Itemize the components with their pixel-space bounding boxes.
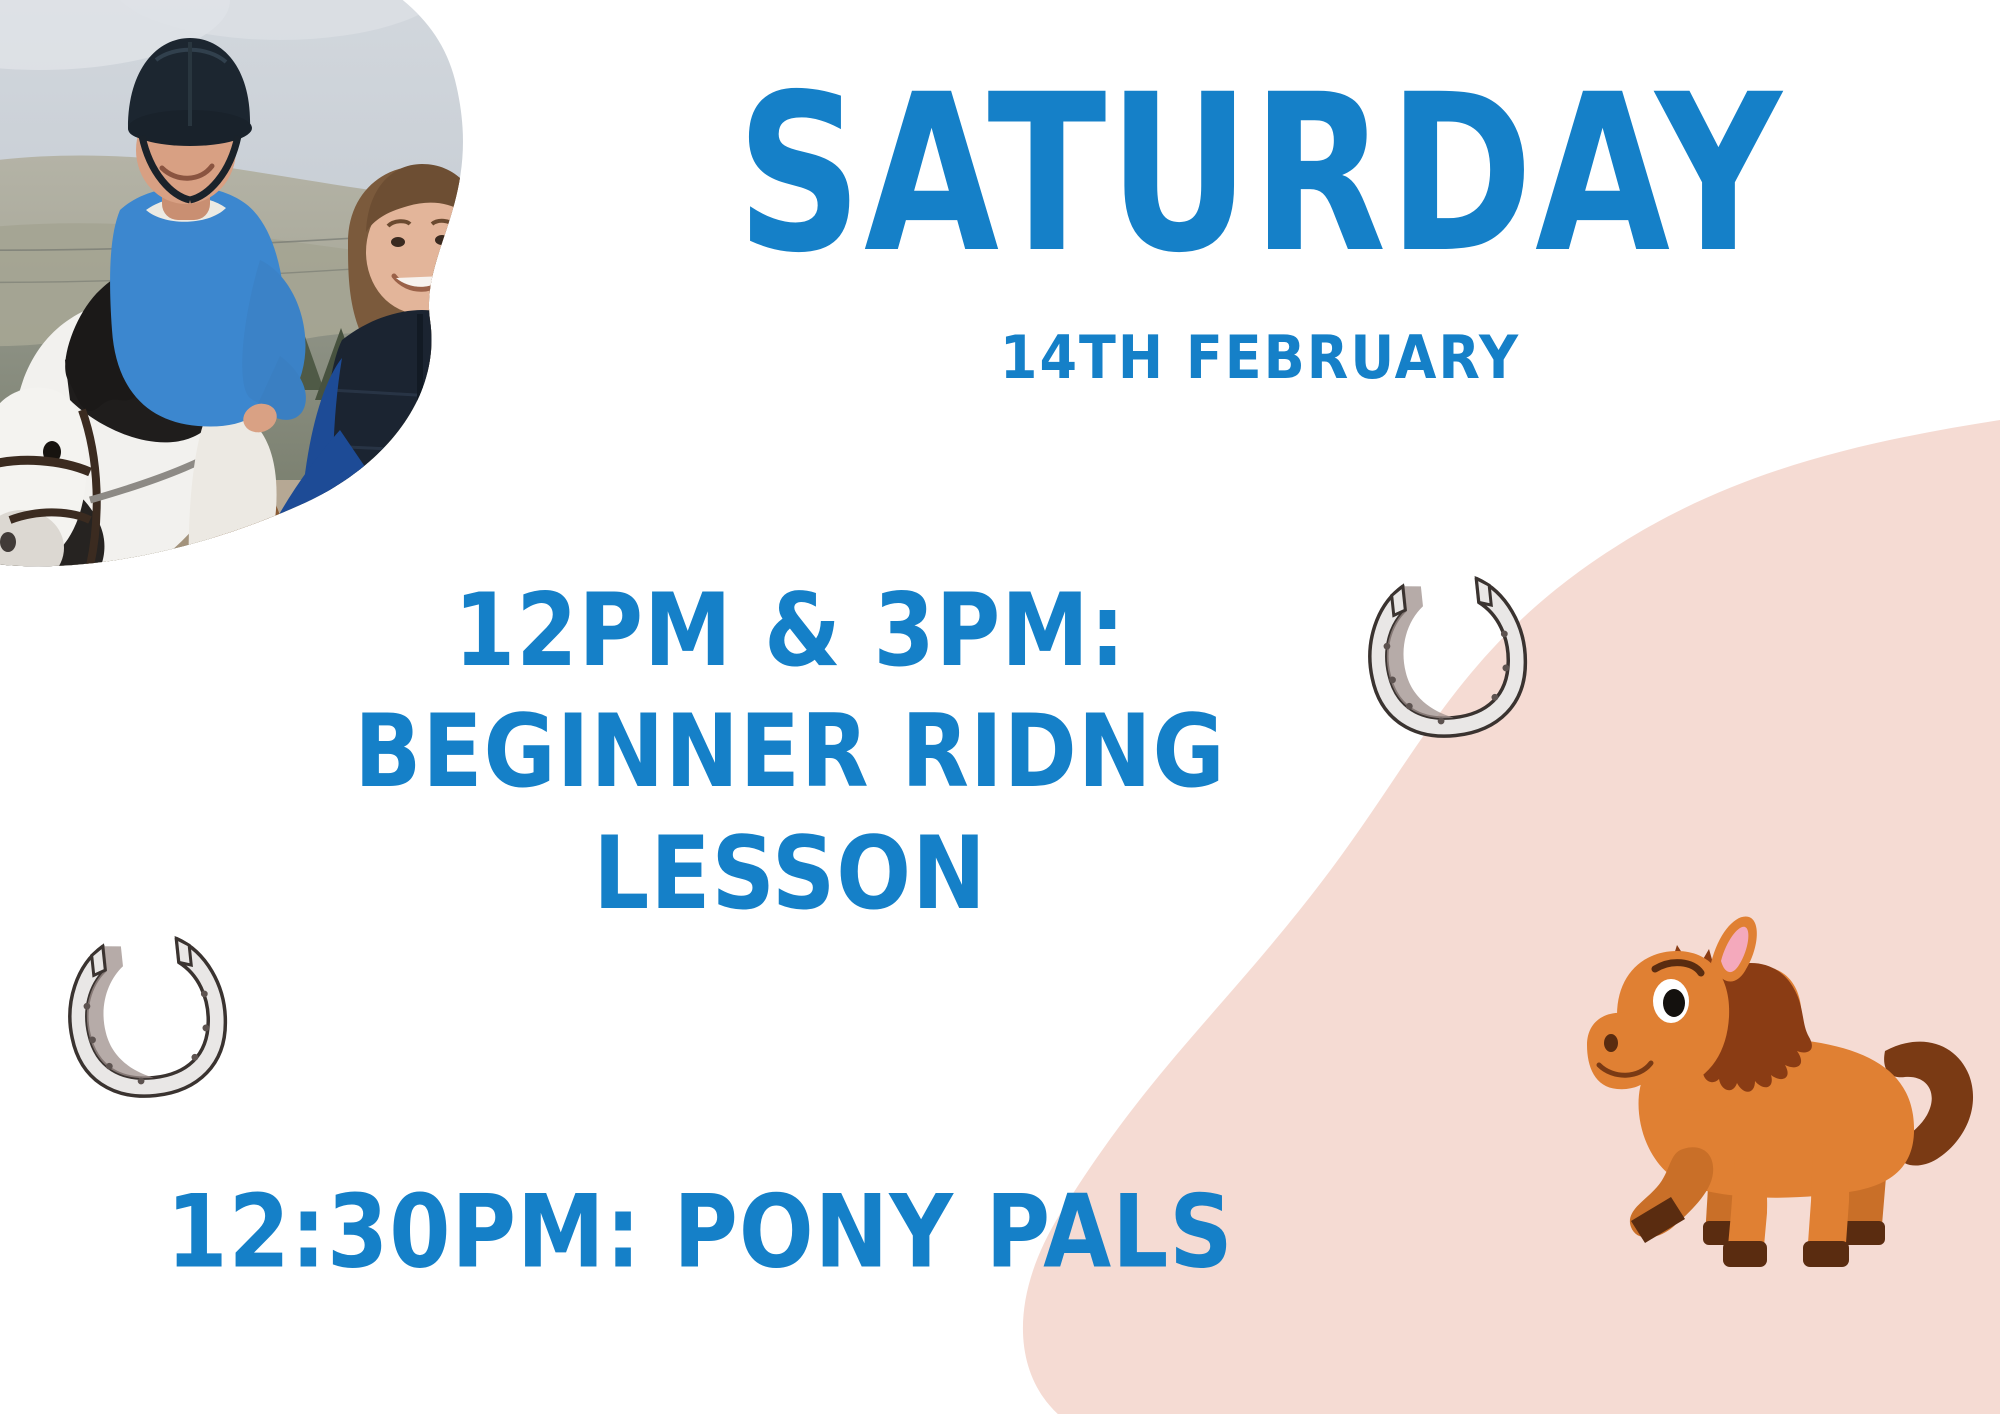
page-subtitle: 14TH FEBRUARY	[560, 237, 1960, 392]
riders-photo	[0, 0, 570, 600]
cartoon-horse-icon	[1525, 865, 1995, 1305]
poster-canvas: SATURDAY 14TH FEBRUARY 12PM & 3PM: BEGIN…	[0, 0, 2000, 1414]
schedule-line-activity: BEGINNER RIDNG	[300, 683, 1280, 821]
schedule-line-activity-cont: LESSON	[300, 804, 1280, 942]
schedule-block: 12PM & 3PM: BEGINNER RIDNG LESSON	[300, 570, 1280, 934]
pony-pals-block: 12:30PM: PONY PALS	[150, 1180, 1250, 1283]
horseshoe-icon	[1352, 562, 1542, 744]
headline-group: SATURDAY 14TH FEBRUARY	[560, 66, 1960, 385]
horseshoe-icon	[52, 922, 242, 1104]
schedule-line-pony-pals: 12:30PM: PONY PALS	[150, 1173, 1250, 1290]
schedule-line-time: 12PM & 3PM:	[300, 561, 1280, 699]
